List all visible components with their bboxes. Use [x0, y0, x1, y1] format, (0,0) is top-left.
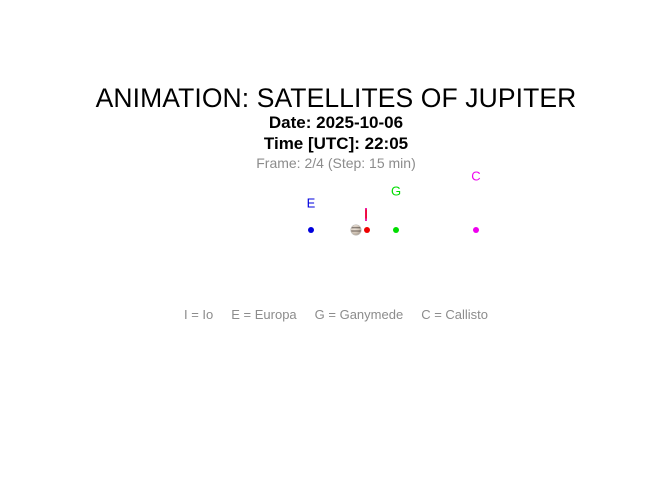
- legend-entry: G = Ganymede: [315, 307, 404, 322]
- moon-label-io: I: [364, 208, 368, 221]
- jupiter-disk: [351, 225, 361, 235]
- legend-entry: I = Io: [184, 307, 213, 322]
- moon-dot-ganymede[interactable]: [393, 227, 399, 233]
- moon-dot-europa[interactable]: [308, 227, 314, 233]
- legend-entry: C = Callisto: [421, 307, 488, 322]
- moon-label-callisto: C: [471, 170, 480, 183]
- animation-canvas: ANIMATION: SATELLITES OF JUPITER Date: 2…: [0, 0, 672, 480]
- legend: I = IoE = EuropaG = GanymedeC = Callisto: [0, 307, 672, 322]
- moon-label-europa: E: [307, 197, 316, 210]
- satellite-field: EIGC: [0, 0, 672, 480]
- moon-label-ganymede: G: [391, 185, 401, 198]
- moon-dot-io[interactable]: [364, 227, 370, 233]
- legend-entry: E = Europa: [231, 307, 296, 322]
- moon-dot-callisto[interactable]: [473, 227, 479, 233]
